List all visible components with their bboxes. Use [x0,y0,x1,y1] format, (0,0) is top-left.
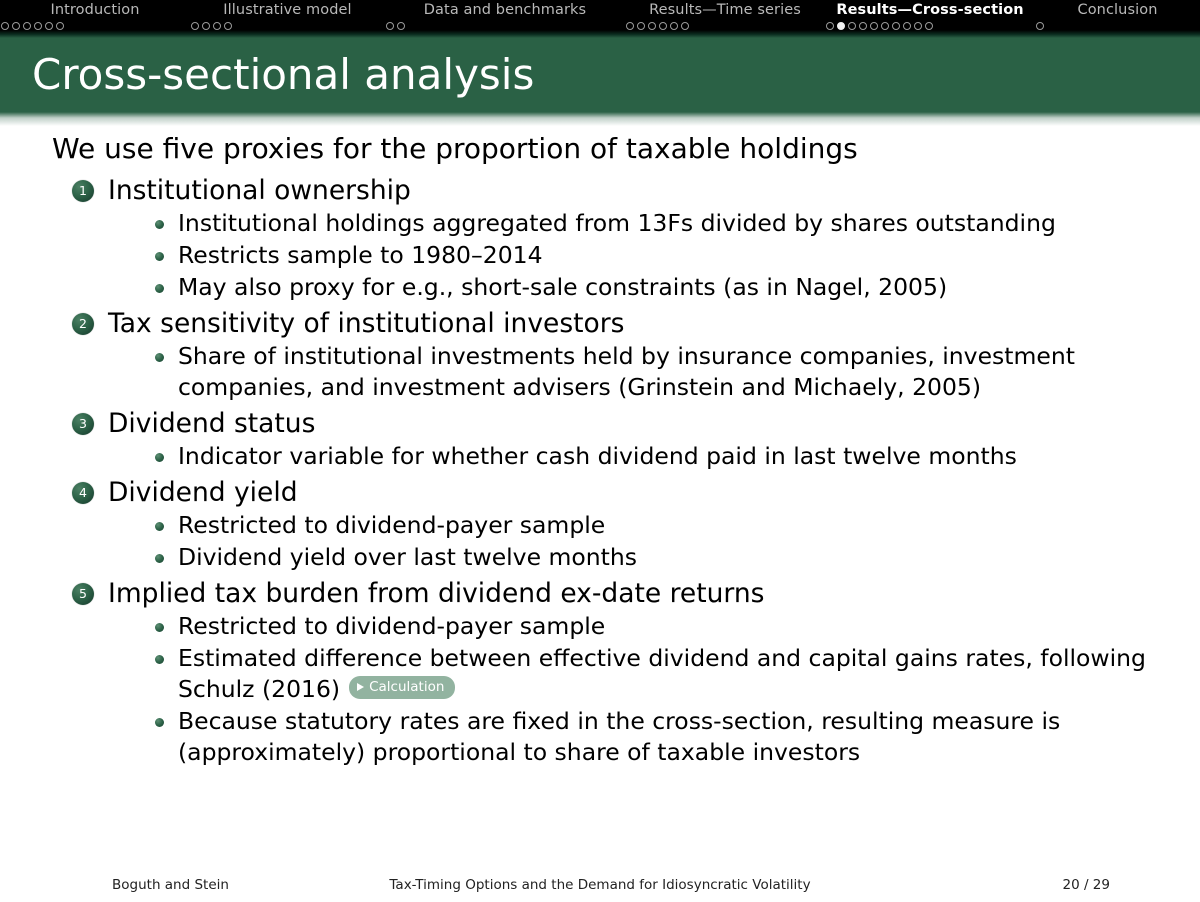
nav-dot[interactable] [881,22,889,30]
proxy-detail-item: Indicator variable for whether cash divi… [155,441,1200,472]
footer-page-number: 20 / 29 [1063,868,1111,902]
nav-slide-dots [825,22,933,30]
proxy-item-header: 1Institutional ownership [72,174,1200,208]
proxy-detail-text: Institutional holdings aggregated from 1… [178,209,1056,237]
nav-dot[interactable] [914,22,922,30]
proxy-detail-list: Institutional holdings aggregated from 1… [0,208,1200,303]
bullet-dot-icon [155,655,164,664]
number-badge-icon: 5 [72,583,94,605]
title-fade-divider [0,112,1200,126]
proxy-detail-text-wrap: Share of institutional investments held … [178,341,1148,403]
proxy-item-header: 2Tax sensitivity of institutional invest… [72,307,1200,341]
calculation-link-button[interactable]: Calculation [349,676,455,699]
nav-dot[interactable] [826,22,834,30]
nav-dot[interactable] [681,22,689,30]
bullet-dot-icon [155,554,164,563]
proxy-detail-text: Restricted to dividend-payer sample [178,612,605,640]
calculation-link-label: Calculation [369,678,444,696]
nav-dot[interactable] [859,22,867,30]
bullet-dot-icon [155,623,164,632]
proxy-item: 4Dividend yieldRestricted to dividend-pa… [0,476,1200,573]
proxy-item-header: 3Dividend status [72,407,1200,441]
nav-slide-dots [385,22,405,30]
proxy-detail-text-wrap: Restricted to dividend-payer sample [178,611,605,642]
proxy-detail-item: Restricted to dividend-payer sample [155,611,1200,642]
proxy-item-title: Dividend yield [108,476,298,510]
nav-dot[interactable] [56,22,64,30]
proxy-detail-text: Estimated difference between effective d… [178,644,1146,703]
nav-dot[interactable] [659,22,667,30]
proxy-detail-list: Indicator variable for whether cash divi… [0,441,1200,472]
nav-dot[interactable] [870,22,878,30]
proxy-detail-item: May also proxy for e.g., short-sale cons… [155,272,1200,303]
nav-section-label: Introduction [50,2,139,19]
proxy-detail-text-wrap: Restricted to dividend-payer sample [178,510,605,541]
proxy-detail-text: Share of institutional investments held … [178,342,1075,401]
nav-dot[interactable] [45,22,53,30]
nav-dot[interactable] [1,22,9,30]
proxy-item: 5Implied tax burden from dividend ex-dat… [0,577,1200,768]
proxy-detail-text: Because statutory rates are fixed in the… [178,707,1060,766]
proxy-item-title: Institutional ownership [108,174,411,208]
nav-section-data-and-benchmarks[interactable]: Data and benchmarks [385,0,625,30]
proxy-detail-text: Restricts sample to 1980–2014 [178,241,543,269]
nav-section-results-cross-section[interactable]: Results—Cross-section [825,0,1035,30]
nav-section-label: Results—Time series [649,2,801,19]
proxy-list: 1Institutional ownershipInstitutional ho… [0,174,1200,768]
lead-statement: We use five proxies for the proportion o… [52,132,1200,166]
nav-slide-dots [1035,22,1044,30]
proxy-detail-list: Share of institutional investments held … [0,341,1200,403]
nav-dot[interactable] [637,22,645,30]
proxy-item-title: Dividend status [108,407,315,441]
proxy-detail-text: Restricted to dividend-payer sample [178,511,605,539]
proxy-detail-text-wrap: Restricts sample to 1980–2014 [178,240,543,271]
nav-section-conclusion[interactable]: Conclusion [1035,0,1200,30]
proxy-item: 3Dividend statusIndicator variable for w… [0,407,1200,472]
footer-title: Tax-Timing Options and the Demand for Id… [0,868,1200,902]
nav-section-label: Conclusion [1077,2,1157,19]
bullet-dot-icon [155,220,164,229]
proxy-detail-text-wrap: Indicator variable for whether cash divi… [178,441,1017,472]
proxy-detail-text: May also proxy for e.g., short-sale cons… [178,273,947,301]
nav-section-illustrative-model[interactable]: Illustrative model [190,0,385,30]
proxy-detail-text: Dividend yield over last twelve months [178,543,637,571]
nav-dot[interactable] [191,22,199,30]
proxy-detail-text-wrap: Estimated difference between effective d… [178,643,1148,705]
proxy-item-title: Implied tax burden from dividend ex-date… [108,577,764,611]
bullet-dot-icon [155,522,164,531]
nav-dot[interactable] [23,22,31,30]
nav-dot[interactable] [848,22,856,30]
slide-title-bar: Cross-sectional analysis [0,38,1200,112]
nav-dot[interactable] [670,22,678,30]
proxy-detail-list: Restricted to dividend-payer sampleEstim… [0,611,1200,768]
play-triangle-icon [357,683,364,691]
nav-slide-dots [625,22,689,30]
nav-dot[interactable] [386,22,394,30]
proxy-detail-text-wrap: May also proxy for e.g., short-sale cons… [178,272,947,303]
nav-dot[interactable] [648,22,656,30]
nav-dot[interactable] [903,22,911,30]
proxy-item-title: Tax sensitivity of institutional investo… [108,307,624,341]
bullet-dot-icon [155,353,164,362]
bullet-dot-icon [155,284,164,293]
number-badge-icon: 1 [72,180,94,202]
proxy-detail-item: Because statutory rates are fixed in the… [155,706,1200,768]
nav-section-label: Illustrative model [223,2,351,19]
nav-dot[interactable] [224,22,232,30]
nav-section-introduction[interactable]: Introduction [0,0,190,30]
proxy-item-header: 5Implied tax burden from dividend ex-dat… [72,577,1200,611]
bullet-dot-icon [155,718,164,727]
nav-slide-dots [190,22,232,30]
number-badge-icon: 4 [72,482,94,504]
bullet-dot-icon [155,453,164,462]
number-badge-icon: 2 [72,313,94,335]
proxy-detail-text: Indicator variable for whether cash divi… [178,442,1017,470]
nav-dot[interactable] [397,22,405,30]
proxy-detail-item: Restricted to dividend-payer sample [155,510,1200,541]
nav-dot-current[interactable] [837,22,845,30]
nav-section-label: Data and benchmarks [424,2,586,19]
page-title: Cross-sectional analysis [32,52,534,98]
proxy-item: 2Tax sensitivity of institutional invest… [0,307,1200,403]
navbar-gradient-divider [0,30,1200,38]
bullet-dot-icon [155,252,164,261]
nav-section-results-time-series[interactable]: Results—Time series [625,0,825,30]
slide-content: We use five proxies for the proportion o… [0,132,1200,860]
proxy-detail-text-wrap: Dividend yield over last twelve months [178,542,637,573]
proxy-item: 1Institutional ownershipInstitutional ho… [0,174,1200,303]
proxy-detail-list: Restricted to dividend-payer sampleDivid… [0,510,1200,573]
nav-section-label: Results—Cross-section [836,2,1023,19]
proxy-detail-item: Share of institutional investments held … [155,341,1200,403]
proxy-detail-item: Restricts sample to 1980–2014 [155,240,1200,271]
proxy-detail-item: Dividend yield over last twelve months [155,542,1200,573]
proxy-item-header: 4Dividend yield [72,476,1200,510]
nav-dot[interactable] [202,22,210,30]
nav-dot[interactable] [925,22,933,30]
nav-dot[interactable] [213,22,221,30]
slide-footer: Boguth and Stein Tax-Timing Options and … [0,868,1200,902]
nav-dot[interactable] [1036,22,1044,30]
proxy-detail-item: Estimated difference between effective d… [155,643,1200,705]
nav-dot[interactable] [12,22,20,30]
proxy-detail-item: Institutional holdings aggregated from 1… [155,208,1200,239]
number-badge-icon: 3 [72,413,94,435]
proxy-detail-text-wrap: Institutional holdings aggregated from 1… [178,208,1056,239]
nav-dot[interactable] [626,22,634,30]
proxy-detail-text-wrap: Because statutory rates are fixed in the… [178,706,1148,768]
nav-dot[interactable] [34,22,42,30]
nav-slide-dots [0,22,64,30]
nav-dot[interactable] [892,22,900,30]
